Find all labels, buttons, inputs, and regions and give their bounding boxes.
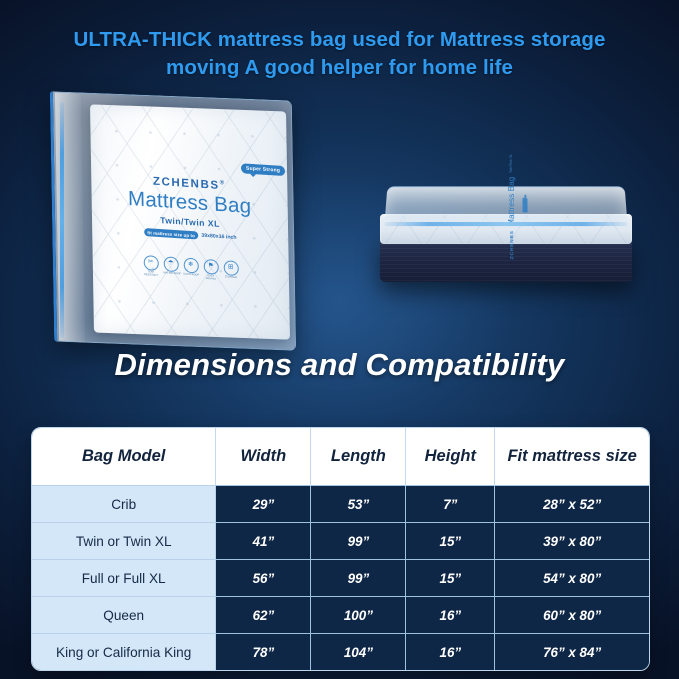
- feature-caption: WATERPROOF: [163, 272, 178, 276]
- cell-fit: 60” x 80”: [495, 597, 649, 634]
- cell-length: 53”: [311, 486, 406, 523]
- table-row: Twin or Twin XL 41” 99” 15” 39” x 80”: [32, 523, 649, 560]
- bag-print-label: ZCHENBS® Mattress Bag Twin/Twin XL fit m…: [101, 175, 278, 243]
- cell-fit: 39” x 80”: [495, 523, 649, 560]
- table-row: Queen 62” 100” 16” 60” x 80”: [32, 597, 649, 634]
- column-header-length: Length: [311, 428, 406, 486]
- cell-fit: 76” x 84”: [495, 634, 649, 671]
- product-image-flat-mattress: ZCHENBS Mattress Bag Twin/Twin XL: [372, 178, 640, 290]
- product-size-label: Twin/Twin XL: [509, 154, 513, 173]
- tear-resistant-icon: ✂: [143, 255, 158, 271]
- bag-print-rotated: ZCHENBS Mattress Bag Twin/Twin XL: [506, 154, 516, 259]
- product-name: Mattress Bag: [506, 177, 516, 226]
- cell-height: 15”: [406, 523, 495, 560]
- cell-width: 78”: [216, 634, 311, 671]
- mattress-body: ZCHENBS® Mattress Bag Twin/Twin XL fit m…: [90, 104, 290, 339]
- cell-model: Twin or Twin XL: [32, 523, 216, 560]
- cell-height: 15”: [406, 560, 495, 597]
- brand-name: ZCHENBS: [508, 230, 513, 259]
- table-row: King or California King 78” 104” 16” 76”…: [32, 634, 649, 671]
- headline-line-1: ULTRA-THICK mattress bag used for Mattre…: [38, 26, 641, 54]
- cell-height: 16”: [406, 634, 495, 671]
- cell-length: 104”: [311, 634, 406, 671]
- table-header-row: Bag Model Width Length Height Fit mattre…: [32, 428, 649, 486]
- cell-fit: 54” x 80”: [495, 560, 649, 597]
- cell-model: Full or Full XL: [32, 560, 216, 597]
- storage-icon: ⊞: [223, 260, 238, 276]
- feature-item: ✂ TEAR RESISTANT: [143, 255, 158, 278]
- column-header-width: Width: [216, 428, 311, 486]
- waterproof-icon: ☂: [163, 256, 178, 272]
- bag-seam: [60, 102, 64, 338]
- cell-model: King or California King: [32, 634, 216, 671]
- cell-width: 62”: [216, 597, 311, 634]
- cell-width: 56”: [216, 560, 311, 597]
- column-header-fit-size: Fit mattress size: [495, 428, 649, 486]
- feature-item: ☂ WATERPROOF: [163, 256, 178, 279]
- product-image-upright-bag: ZCHENBS® Mattress Bag Twin/Twin XL fit m…: [52, 96, 302, 346]
- infographic-canvas: ULTRA-THICK mattress bag used for Mattre…: [0, 0, 679, 679]
- cell-height: 16”: [406, 597, 495, 634]
- feature-caption: EASY MOVING: [203, 275, 218, 281]
- moving-icon: ⚑: [203, 259, 218, 275]
- cell-length: 99”: [311, 523, 406, 560]
- dustproof-icon: ❄: [183, 258, 198, 274]
- feature-item: ⊞ STORAGE: [223, 260, 238, 283]
- dimensions-table: Bag Model Width Length Height Fit mattre…: [31, 427, 650, 671]
- cell-height: 7”: [406, 486, 495, 523]
- cell-fit: 28” x 52”: [495, 486, 649, 523]
- cell-length: 99”: [311, 560, 406, 597]
- cell-width: 29”: [216, 486, 311, 523]
- feature-item: ❄ DUSTPROOF: [183, 258, 198, 281]
- cell-width: 41”: [216, 523, 311, 560]
- plastic-bag-cover: ZCHENBS Mattress Bag Twin/Twin XL: [385, 186, 628, 223]
- registered-mark: ®: [220, 180, 226, 186]
- table-row: Full or Full XL 56” 99” 15” 54” x 80”: [32, 560, 649, 597]
- cell-model: Queen: [32, 597, 216, 634]
- headline-line-2: moving A good helper for home life: [38, 54, 641, 82]
- page-headline: ULTRA-THICK mattress bag used for Mattre…: [0, 26, 679, 83]
- feature-caption: DUSTPROOF: [183, 274, 198, 278]
- fit-dimensions: 39x80x16 inch: [201, 233, 236, 241]
- bottle-icon: [523, 198, 528, 213]
- feature-caption: STORAGE: [223, 276, 238, 280]
- section-title: Dimensions and Compatibility: [0, 347, 679, 383]
- table-row: Crib 29” 53” 7” 28” x 52”: [32, 486, 649, 523]
- cell-length: 100”: [311, 597, 406, 634]
- feature-item: ⚑ EASY MOVING: [203, 259, 218, 282]
- column-header-bag-model: Bag Model: [32, 428, 216, 486]
- feature-caption: TEAR RESISTANT: [143, 271, 158, 277]
- cell-model: Crib: [32, 486, 216, 523]
- column-header-height: Height: [406, 428, 495, 486]
